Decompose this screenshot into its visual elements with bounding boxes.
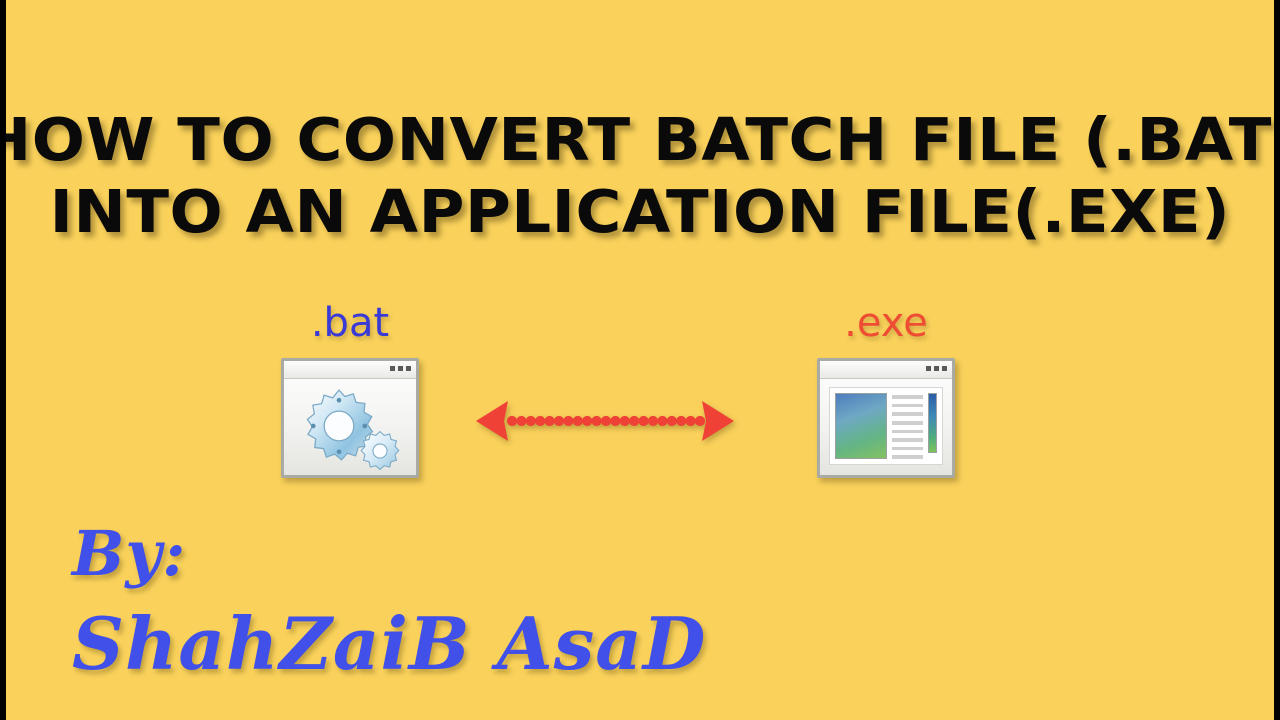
target-file-group: .exe	[766, 296, 1006, 478]
right-letterbox-bar	[1274, 0, 1280, 720]
window-titlebar	[820, 361, 952, 379]
title-line-2: INTO AN APPLICATION FILE(.EXE)	[0, 176, 1280, 248]
title-line-1: HOW TO CONVERT BATCH FILE (.BAT)	[0, 104, 1280, 176]
slide-canvas: HOW TO CONVERT BATCH FILE (.BAT) INTO AN…	[0, 0, 1280, 720]
text-lines	[892, 393, 923, 459]
bat-extension-label: .bat	[230, 296, 470, 350]
icon-row: .bat	[0, 296, 1280, 496]
left-letterbox-bar	[0, 0, 6, 720]
small-gear-icon	[358, 429, 402, 473]
gradient-scrollbar	[928, 393, 937, 453]
exe-extension-label: .exe	[766, 296, 1006, 350]
window-titlebar	[284, 361, 416, 379]
application-content	[829, 387, 943, 465]
double-headed-dotted-arrow	[474, 398, 736, 444]
window-dots	[926, 366, 947, 371]
page-title: HOW TO CONVERT BATCH FILE (.BAT) INTO AN…	[0, 104, 1280, 248]
image-thumbnail	[835, 393, 887, 459]
signature-by-label: By:	[72, 512, 706, 596]
author-signature: By: ShahZaiB AsaD	[72, 512, 706, 692]
gears-window-icon	[281, 358, 419, 478]
signature-author-name: ShahZaiB AsaD	[72, 596, 706, 692]
window-dots	[390, 366, 411, 371]
application-window-icon	[817, 358, 955, 478]
source-file-group: .bat	[230, 296, 470, 478]
